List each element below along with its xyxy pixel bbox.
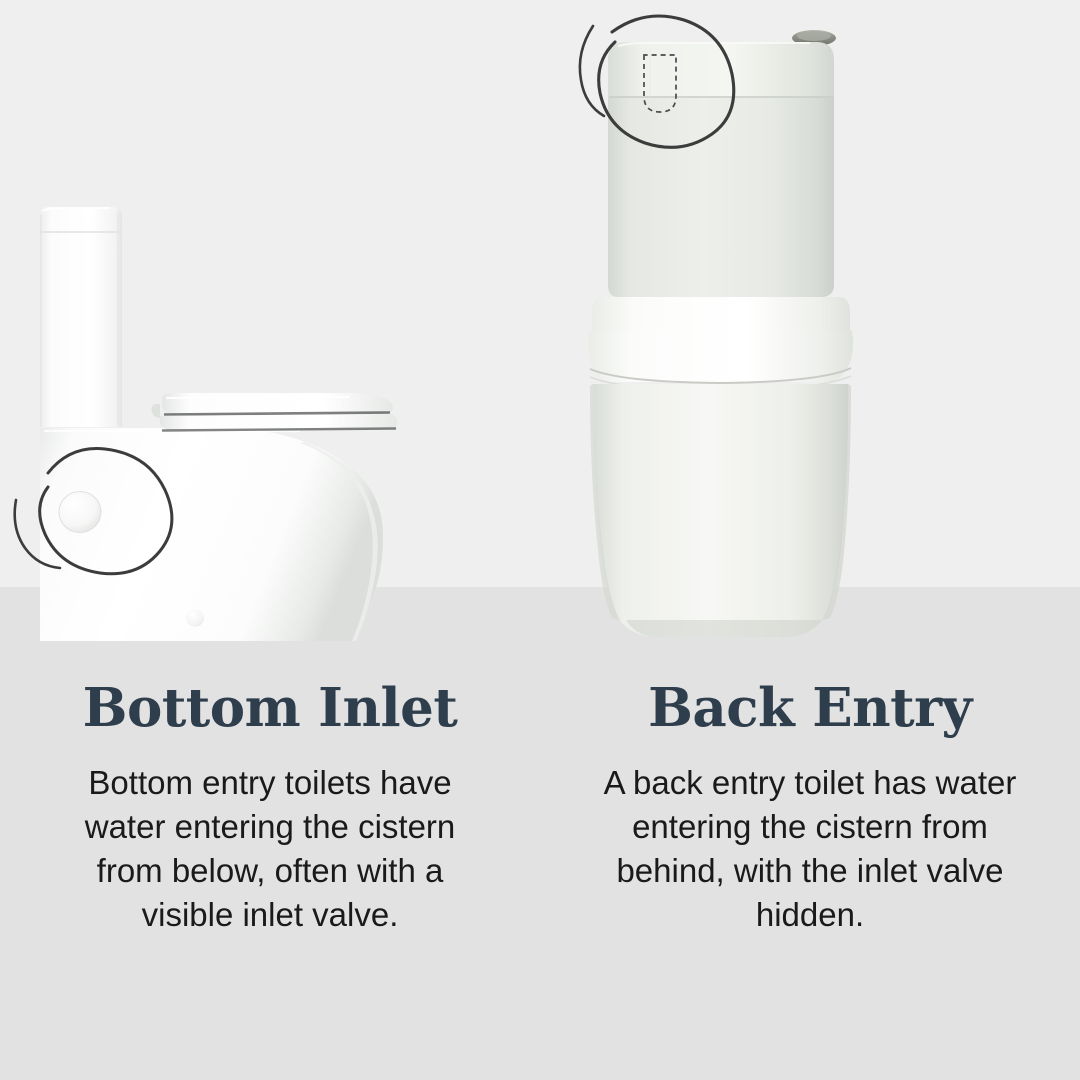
figure-back-entry-toilet <box>560 0 1080 660</box>
figure-bottom-inlet-toilet <box>0 0 560 660</box>
title-bottom-inlet: Bottom Inlet <box>83 682 458 735</box>
column-bottom-inlet: Bottom Inlet Bottom entry toilets have w… <box>0 660 540 1080</box>
cistern-left <box>40 207 122 427</box>
seat-lid-left <box>162 393 393 414</box>
seat-right <box>588 330 853 391</box>
pan-right <box>590 384 851 637</box>
title-back-entry: Back Entry <box>648 682 972 735</box>
captions-row: Bottom Inlet Bottom entry toilets have w… <box>0 660 1080 1080</box>
seat-assembly-left <box>151 393 397 431</box>
pan-left <box>40 428 383 641</box>
body-bottom-inlet: Bottom entry toilets have water entering… <box>55 761 485 937</box>
column-back-entry: Back Entry A back entry toilet has water… <box>540 660 1080 1080</box>
cistern-pan-shoulder <box>592 297 850 330</box>
illustration-stage <box>0 0 1080 660</box>
cistern-lid-right <box>608 42 834 98</box>
seat-hinge-left <box>151 404 160 418</box>
body-back-entry: A back entry toilet has water entering t… <box>595 761 1025 937</box>
fixing-hole-left <box>186 610 204 627</box>
cistern-right <box>608 42 834 297</box>
